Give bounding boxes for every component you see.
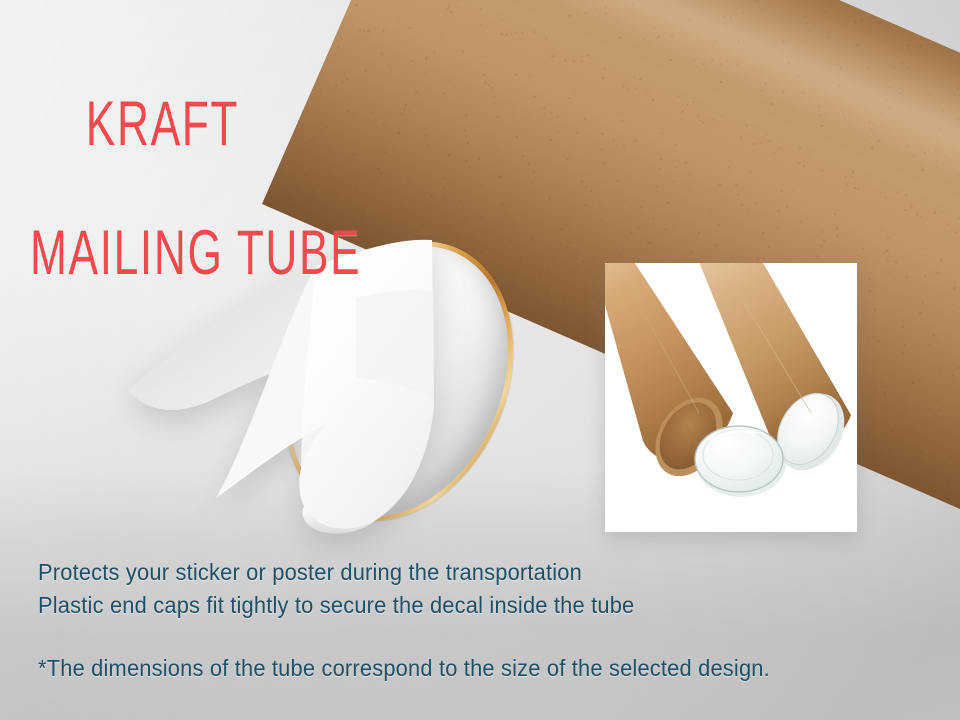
product-banner: KRAFT MAILING TUBE Protects your sticker… — [0, 0, 960, 720]
inset-end-cap — [695, 426, 786, 497]
headline-line-2: MAILING TUBE — [30, 222, 361, 287]
headline-line-1: KRAFT — [86, 89, 239, 159]
footnote-text: *The dimensions of the tube correspond t… — [38, 655, 770, 682]
feature-item-2: Plastic end caps fit tightly to secure t… — [38, 589, 634, 622]
page-title: KRAFT MAILING TUBE — [30, 28, 361, 415]
feature-list: Protects your sticker or poster during t… — [38, 556, 634, 621]
feature-item-1: Protects your sticker or poster during t… — [38, 556, 634, 589]
inset-product-photo — [605, 263, 857, 532]
inset-tubes-illustration — [605, 263, 857, 532]
tube-highlight — [379, 0, 960, 296]
